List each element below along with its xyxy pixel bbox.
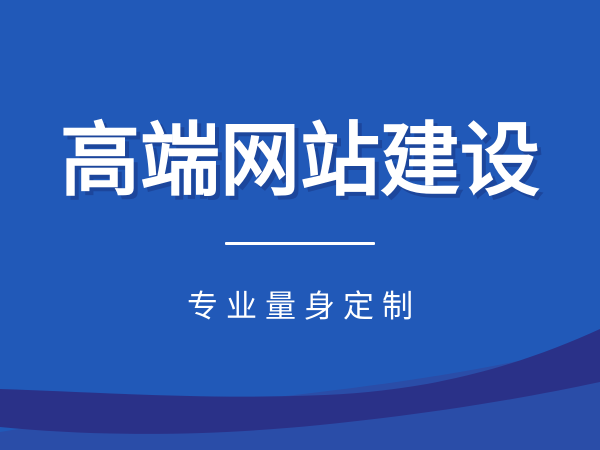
banner-subtitle: 专业量身定制: [0, 288, 600, 326]
title-divider: [225, 242, 375, 245]
banner-content: 高端网站建设 专业量身定制: [0, 0, 600, 450]
banner-title: 高端网站建设: [0, 113, 600, 209]
promo-banner: 高端网站建设 专业量身定制: [0, 0, 600, 450]
